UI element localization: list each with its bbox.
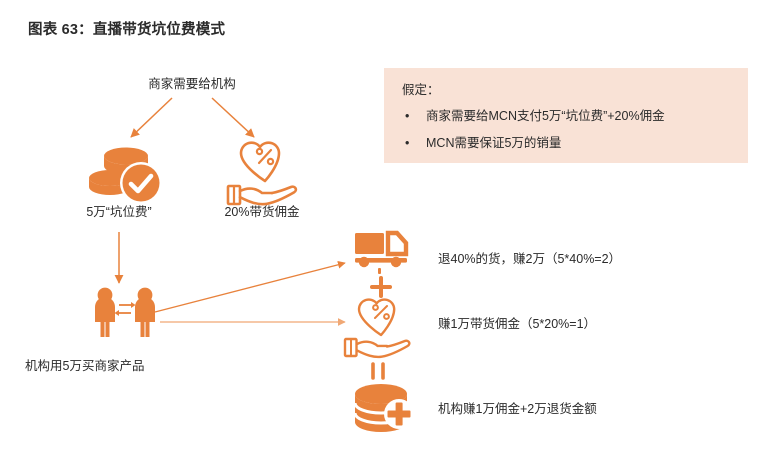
assumption-item-text: MCN需要保证5万的销量 — [426, 136, 561, 150]
figure-root: 图表 63：直播带货坑位费模式 假定： • 商家需要给MCN支付5万“坑位费”+… — [0, 0, 773, 475]
fee-label: 5万“坑位费” — [86, 201, 151, 220]
buyer-label: 机构用5万买商家产品 — [25, 355, 144, 374]
arrow-to-fee — [131, 98, 172, 137]
plus-operator-icon — [372, 278, 390, 296]
outcome-label-total: 机构赚1万佣金+2万退货金额 — [438, 398, 597, 417]
arrow-buyer-to-return — [155, 263, 345, 312]
commission-label: 20%带货佣金 — [224, 201, 299, 220]
coins-plus-icon — [355, 384, 414, 432]
arrow-to-commission — [212, 98, 254, 137]
truck-icon — [355, 233, 407, 274]
assumption-heading: 假定： — [402, 79, 440, 98]
heart-hand-percent-icon-outcome — [345, 300, 409, 357]
outcome-label-commission: 赚1万带货佣金（5*20%=1） — [438, 313, 596, 332]
source-label: 商家需要给机构 — [148, 73, 236, 92]
bullet-icon: • — [405, 103, 409, 130]
two-people-exchange-icon — [95, 288, 155, 337]
assumption-item: • MCN需要保证5万的销量 — [402, 130, 742, 157]
coins-check-icon — [89, 148, 162, 205]
outcome-label-return: 退40%的货，赚2万（5*40%=2） — [438, 248, 621, 267]
page-title: 图表 63：直播带货坑位费模式 — [28, 18, 225, 39]
equals-operator-icon — [373, 364, 383, 378]
bullet-icon: • — [405, 130, 409, 157]
assumption-item: • 商家需要给MCN支付5万“坑位费”+20%佣金 — [402, 103, 742, 130]
assumption-list: • 商家需要给MCN支付5万“坑位费”+20%佣金 • MCN需要保证5万的销量 — [402, 103, 742, 157]
assumption-box: 假定： • 商家需要给MCN支付5万“坑位费”+20%佣金 • MCN需要保证5… — [384, 68, 748, 163]
assumption-item-text: 商家需要给MCN支付5万“坑位费”+20%佣金 — [426, 109, 665, 123]
heart-hand-percent-icon — [228, 143, 296, 205]
